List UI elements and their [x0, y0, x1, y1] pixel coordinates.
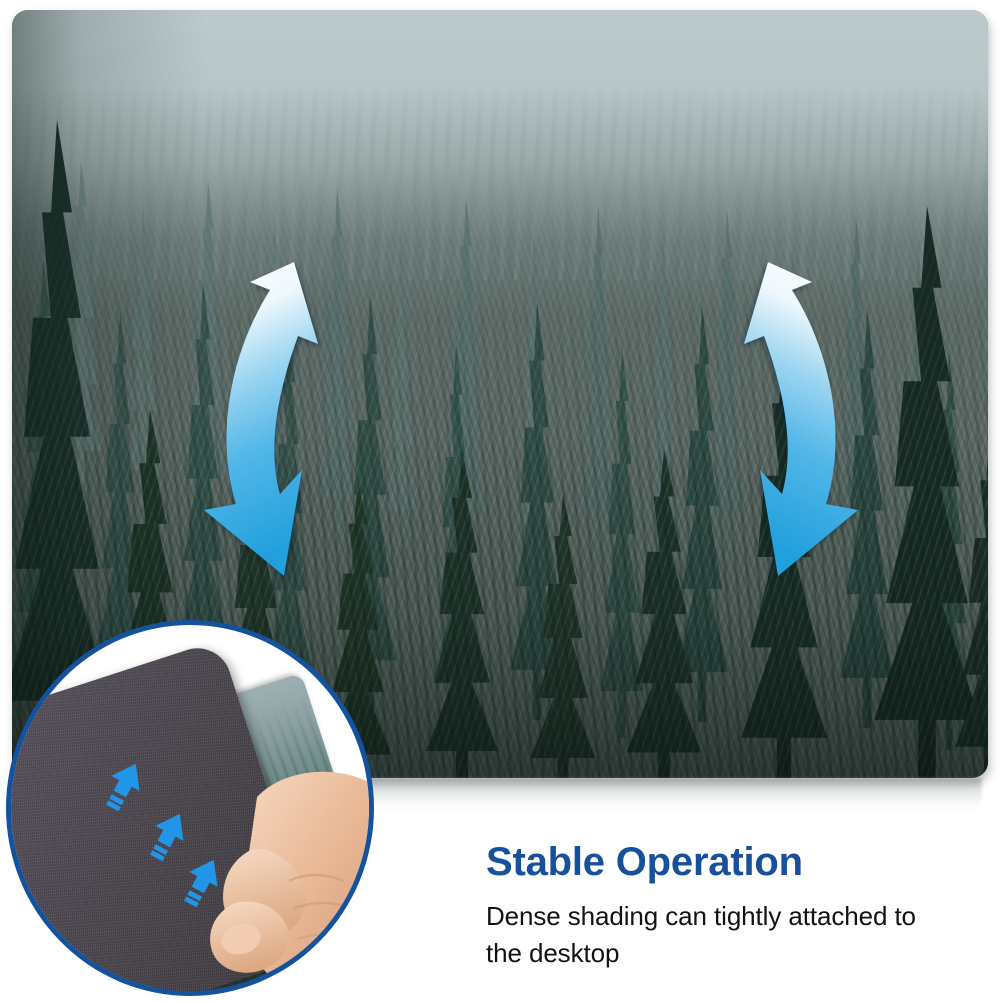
anti-slip-base-closeup-inset [6, 620, 374, 996]
product-feature-card: Stable Operation Dense shading can tight… [0, 0, 1000, 1002]
hand-lifting-pad-icon [201, 753, 374, 996]
feature-copy-block: Stable Operation Dense shading can tight… [486, 842, 946, 971]
feature-headline: Stable Operation [486, 842, 946, 884]
swoosh-arrow-down-left-icon [198, 258, 378, 588]
swoosh-arrow-down-right-icon [684, 258, 864, 588]
feature-subcopy: Dense shading can tightly attached to th… [486, 898, 946, 972]
